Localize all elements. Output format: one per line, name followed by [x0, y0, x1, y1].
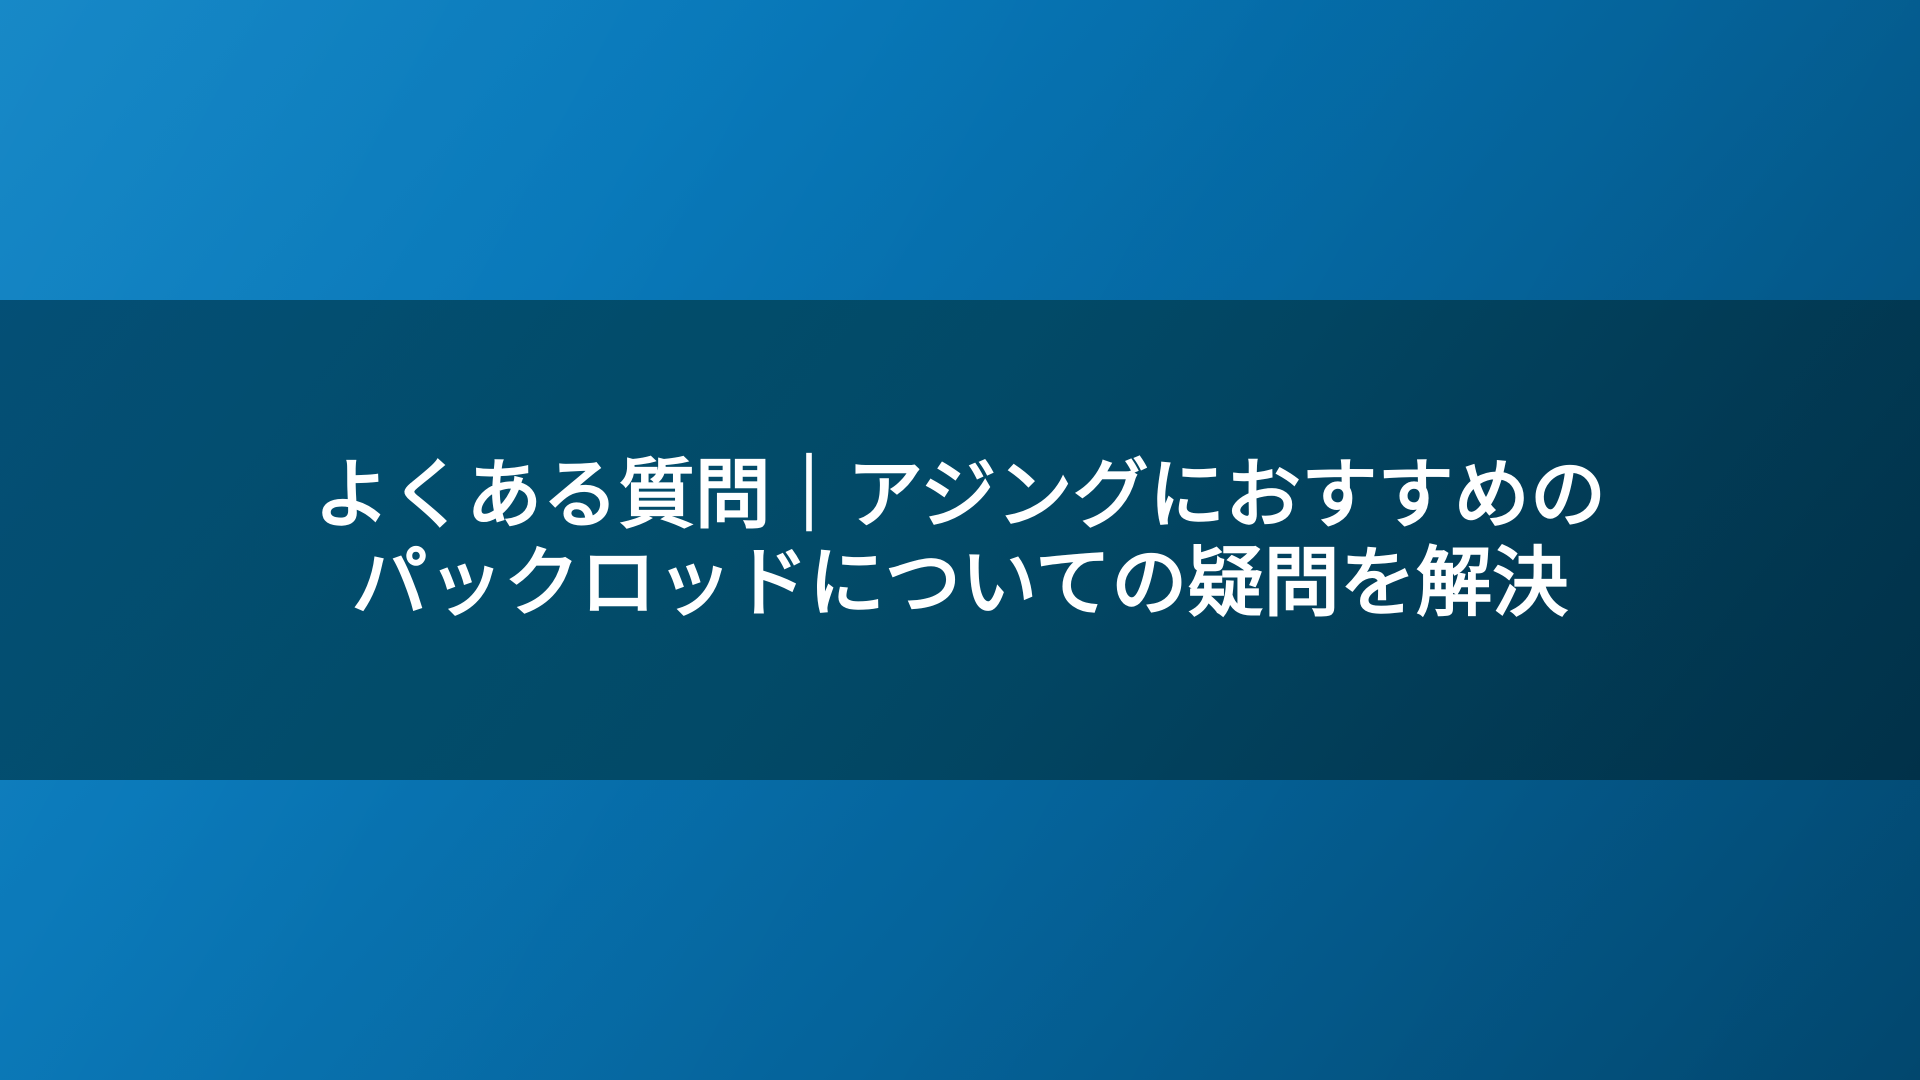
- hero-banner: よくある質問｜アジングにおすすめのパックロッドについての疑問を解決: [0, 0, 1920, 1080]
- title-band: よくある質問｜アジングにおすすめのパックロッドについての疑問を解決: [0, 300, 1920, 780]
- page-title: よくある質問｜アジングにおすすめのパックロッドについての疑問を解決: [310, 452, 1610, 628]
